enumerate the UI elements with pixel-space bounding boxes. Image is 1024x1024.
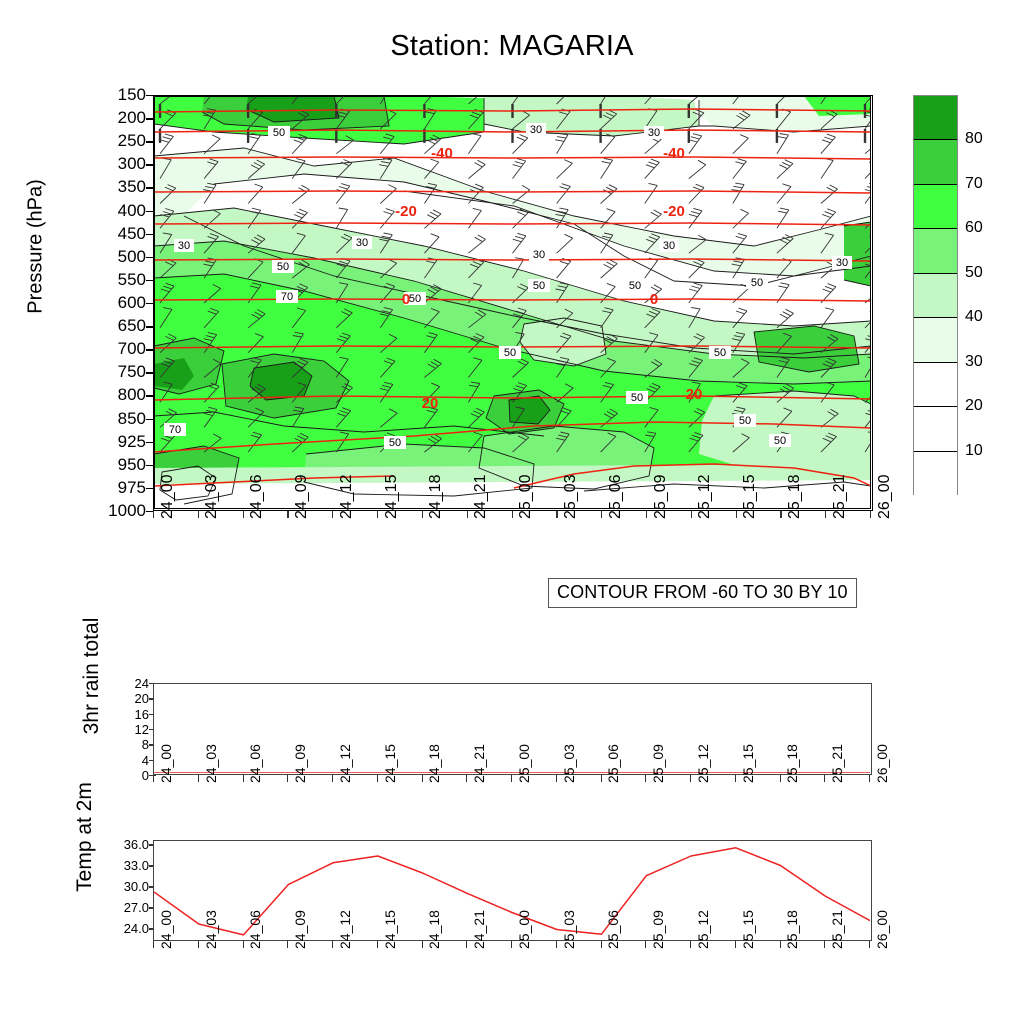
- x-tick: [869, 941, 870, 948]
- x-tick-label: 25_00: [516, 910, 532, 949]
- x-tick-label: 25_09: [652, 475, 670, 520]
- x-tick: [735, 941, 736, 948]
- svg-text:-20: -20: [395, 203, 417, 220]
- x-tick-label: 24_15: [382, 744, 398, 783]
- svg-text:30: 30: [836, 257, 848, 269]
- main-y-tick-label: 925: [76, 433, 146, 450]
- svg-text:30: 30: [648, 127, 660, 139]
- rain-y-axis-labels: 04812162024: [105, 683, 149, 775]
- rain-y-tick-label: 16: [109, 707, 149, 722]
- x-tick-label: 25_15: [741, 475, 759, 520]
- temp-y-tick-label: 33.0: [99, 858, 149, 873]
- main-y-tick: [146, 257, 153, 258]
- x-tick-label: 25_03: [562, 475, 580, 520]
- x-tick-label: 25_15: [740, 744, 756, 783]
- x-tick: [287, 511, 288, 518]
- rain-y-tick-label: 8: [109, 737, 149, 752]
- x-tick-label: 25_21: [831, 475, 849, 520]
- main-x-axis-labels: 24_0024_0324_0624_0924_1224_1524_1824_21…: [153, 511, 873, 591]
- x-tick: [512, 511, 513, 518]
- x-tick-label: 24_06: [247, 744, 263, 783]
- svg-text:30: 30: [663, 240, 675, 252]
- main-y-tick-label: 450: [76, 225, 146, 242]
- main-y-tick: [146, 419, 153, 420]
- svg-text:50: 50: [751, 277, 763, 289]
- x-tick: [377, 511, 378, 518]
- x-tick-label: 24_18: [426, 744, 442, 783]
- x-tick: [243, 775, 244, 782]
- main-y-tick-label: 1000: [76, 502, 146, 519]
- x-tick-label: 24_21: [472, 475, 490, 520]
- x-tick-label: 25_06: [605, 744, 621, 783]
- x-tick-label: 25_18: [786, 475, 804, 520]
- temp-y-tick-label: 30.0: [99, 879, 149, 894]
- svg-text:0: 0: [650, 291, 658, 308]
- main-y-tick: [146, 95, 153, 96]
- x-tick: [198, 941, 199, 948]
- x-tick-label: 25_00: [517, 475, 535, 520]
- rain-y-tick-label: 12: [109, 722, 149, 737]
- x-tick: [511, 941, 512, 948]
- svg-text:50: 50: [739, 415, 751, 427]
- x-tick-label: 24_15: [382, 910, 398, 949]
- main-y-tick: [146, 280, 153, 281]
- x-tick: [243, 941, 244, 948]
- rain-y-tick-label: 4: [109, 753, 149, 768]
- x-tick: [287, 775, 288, 782]
- x-tick: [735, 775, 736, 782]
- main-y-tick-label: 400: [76, 202, 146, 219]
- svg-text:50: 50: [389, 437, 401, 449]
- x-tick-label: 25_09: [650, 744, 666, 783]
- svg-text:50: 50: [273, 127, 285, 139]
- x-tick-label: 24_18: [426, 910, 442, 949]
- svg-text:50: 50: [714, 347, 726, 359]
- x-tick-label: 24_09: [292, 910, 308, 949]
- main-y-tick: [146, 303, 153, 304]
- x-tick-label: 25_15: [740, 910, 756, 949]
- main-y-tick: [146, 511, 153, 512]
- main-y-tick: [146, 349, 153, 350]
- x-tick-label: 25_00: [516, 744, 532, 783]
- x-tick: [153, 775, 154, 782]
- rain-y-tick-label: 20: [109, 691, 149, 706]
- colorbar-tick-label: 50: [965, 264, 983, 282]
- colorbar-tick-label: 10: [965, 442, 983, 460]
- rain-y-tick-label: 0: [109, 768, 149, 783]
- svg-text:-40: -40: [431, 145, 453, 162]
- x-tick: [780, 775, 781, 782]
- temp-x-axis-labels: 24_0024_0324_0624_0924_1224_1524_1824_21…: [153, 941, 873, 1001]
- main-y-tick-label: 600: [76, 294, 146, 311]
- x-tick: [153, 511, 154, 518]
- main-y-tick: [146, 326, 153, 327]
- x-tick: [422, 775, 423, 782]
- x-tick-label: 25_03: [561, 910, 577, 949]
- main-y-tick-label: 650: [76, 317, 146, 334]
- main-y-tick: [146, 465, 153, 466]
- svg-text:70: 70: [281, 291, 293, 303]
- main-y-tick-label: 300: [76, 155, 146, 172]
- svg-text:-20: -20: [663, 203, 685, 220]
- main-y-tick: [146, 141, 153, 142]
- x-tick-label: 24_21: [471, 910, 487, 949]
- svg-text:50: 50: [409, 293, 421, 305]
- x-tick-label: 25_12: [695, 910, 711, 949]
- x-tick-label: 25_06: [607, 475, 625, 520]
- x-tick: [601, 941, 602, 948]
- main-y-tick-label: 750: [76, 363, 146, 380]
- x-tick-label: 25_21: [829, 910, 845, 949]
- x-tick-label: 24_09: [293, 475, 311, 520]
- x-tick-label: 24_06: [247, 910, 263, 949]
- x-tick-label: 25_09: [650, 910, 666, 949]
- pressure-time-cross-section[interactable]: 50 30 30 30 30 30 30 30 50 50 50 50 50 7…: [153, 95, 873, 511]
- x-tick-label: 25_06: [605, 910, 621, 949]
- temp-y-tick-label: 27.0: [99, 900, 149, 915]
- x-tick: [332, 941, 333, 948]
- svg-text:20: 20: [686, 386, 703, 403]
- x-tick-label: 26_00: [876, 475, 894, 520]
- main-y-tick: [146, 372, 153, 373]
- x-tick-label: 24_00: [159, 475, 177, 520]
- main-y-tick-label: 200: [76, 109, 146, 126]
- x-tick: [332, 511, 333, 518]
- svg-text:30: 30: [533, 249, 545, 261]
- x-tick: [287, 941, 288, 948]
- svg-text:50: 50: [631, 392, 643, 404]
- svg-text:70: 70: [169, 424, 181, 436]
- x-tick-label: 25_21: [829, 744, 845, 783]
- temp-y-tick-label: 24.0: [99, 921, 149, 936]
- main-y-tick-label: 500: [76, 248, 146, 265]
- main-y-axis-labels: 1502002503003504004505005506006507007508…: [68, 95, 146, 511]
- main-y-tick: [146, 187, 153, 188]
- main-y-tick: [146, 211, 153, 212]
- x-tick: [422, 941, 423, 948]
- colorbar-tick-label: 40: [965, 308, 983, 326]
- colorbar-labels: 8070605040302010: [913, 95, 1023, 495]
- x-tick-label: 24_00: [158, 744, 174, 783]
- x-tick: [466, 775, 467, 782]
- x-tick-label: 24_00: [158, 910, 174, 949]
- x-tick: [690, 941, 691, 948]
- colorbar-tick-label: 80: [965, 130, 983, 148]
- svg-text:-40: -40: [663, 145, 685, 162]
- x-tick: [601, 775, 602, 782]
- x-tick: [153, 941, 154, 948]
- x-tick-label: 24_12: [337, 744, 353, 783]
- colorbar-tick-label: 30: [965, 353, 983, 371]
- x-tick: [601, 511, 602, 518]
- x-tick-label: 25_03: [561, 744, 577, 783]
- main-y-tick: [146, 395, 153, 396]
- x-tick: [691, 511, 692, 518]
- x-tick: [556, 775, 557, 782]
- main-y-tick-label: 700: [76, 340, 146, 357]
- x-tick-label: 25_18: [784, 744, 800, 783]
- x-tick-label: 25_12: [695, 744, 711, 783]
- x-tick: [556, 511, 557, 518]
- colorbar-tick-label: 20: [965, 397, 983, 415]
- temp-y-axis-labels: 24.027.030.033.036.0: [95, 840, 149, 941]
- svg-text:30: 30: [356, 237, 368, 249]
- svg-text:50: 50: [277, 261, 289, 273]
- x-tick-label: 24_03: [203, 475, 221, 520]
- x-tick-label: 24_12: [337, 910, 353, 949]
- x-tick: [332, 775, 333, 782]
- x-tick-label: 24_03: [203, 910, 219, 949]
- x-tick: [377, 941, 378, 948]
- x-tick-label: 26_00: [874, 910, 890, 949]
- x-tick-label: 25_12: [696, 475, 714, 520]
- x-tick: [377, 775, 378, 782]
- main-y-tick-label: 150: [76, 86, 146, 103]
- main-y-tick-label: 800: [76, 386, 146, 403]
- x-tick: [466, 941, 467, 948]
- x-tick: [645, 775, 646, 782]
- x-tick-label: 24_18: [427, 475, 445, 520]
- svg-text:50: 50: [629, 280, 641, 292]
- x-tick: [198, 511, 199, 518]
- x-tick: [690, 775, 691, 782]
- main-y-tick: [146, 488, 153, 489]
- x-tick: [825, 511, 826, 518]
- x-tick-label: 24_03: [203, 744, 219, 783]
- temp-y-tick-label: 36.0: [99, 837, 149, 852]
- main-y-tick: [146, 442, 153, 443]
- x-tick: [511, 775, 512, 782]
- x-tick: [780, 511, 781, 518]
- x-tick-label: 24_09: [292, 744, 308, 783]
- x-tick-label: 24_06: [248, 475, 266, 520]
- x-tick-label: 24_12: [338, 475, 356, 520]
- main-y-tick-label: 950: [76, 456, 146, 473]
- main-y-tick: [146, 118, 153, 119]
- x-tick: [780, 941, 781, 948]
- colorbar-tick-label: 60: [965, 219, 983, 237]
- svg-text:20: 20: [422, 395, 439, 412]
- main-y-tick-label: 975: [76, 479, 146, 496]
- rain-x-axis-labels: 24_0024_0324_0624_0924_1224_1524_1824_21…: [153, 775, 873, 835]
- main-y-tick-label: 250: [76, 132, 146, 149]
- x-tick: [869, 775, 870, 782]
- x-tick-label: 25_18: [784, 910, 800, 949]
- x-tick-label: 24_15: [383, 475, 401, 520]
- x-tick-label: 26_00: [874, 744, 890, 783]
- x-tick: [736, 511, 737, 518]
- x-tick: [556, 941, 557, 948]
- svg-text:50: 50: [533, 280, 545, 292]
- rain-y-tick-label: 24: [109, 676, 149, 691]
- x-tick: [645, 941, 646, 948]
- x-tick: [870, 511, 871, 518]
- colorbar-tick-label: 70: [965, 175, 983, 193]
- x-tick: [824, 941, 825, 948]
- main-y-tick-label: 850: [76, 410, 146, 427]
- x-tick: [824, 775, 825, 782]
- x-tick: [243, 511, 244, 518]
- main-y-tick-label: 350: [76, 178, 146, 195]
- main-y-tick-label: 550: [76, 271, 146, 288]
- svg-text:50: 50: [774, 435, 786, 447]
- main-y-axis-title: Pressure (hPa): [25, 147, 48, 347]
- temp-y-axis-title: Temp at 2m: [73, 737, 97, 937]
- x-tick: [467, 511, 468, 518]
- page-title: Station: MAGARIA: [0, 30, 1024, 63]
- svg-text:30: 30: [530, 124, 542, 136]
- x-tick-label: 24_21: [471, 744, 487, 783]
- svg-text:30: 30: [178, 240, 190, 252]
- svg-text:50: 50: [504, 347, 516, 359]
- x-tick: [422, 511, 423, 518]
- svg-text:0: 0: [402, 291, 410, 308]
- x-tick: [646, 511, 647, 518]
- x-tick: [198, 775, 199, 782]
- main-y-tick: [146, 164, 153, 165]
- main-y-tick: [146, 234, 153, 235]
